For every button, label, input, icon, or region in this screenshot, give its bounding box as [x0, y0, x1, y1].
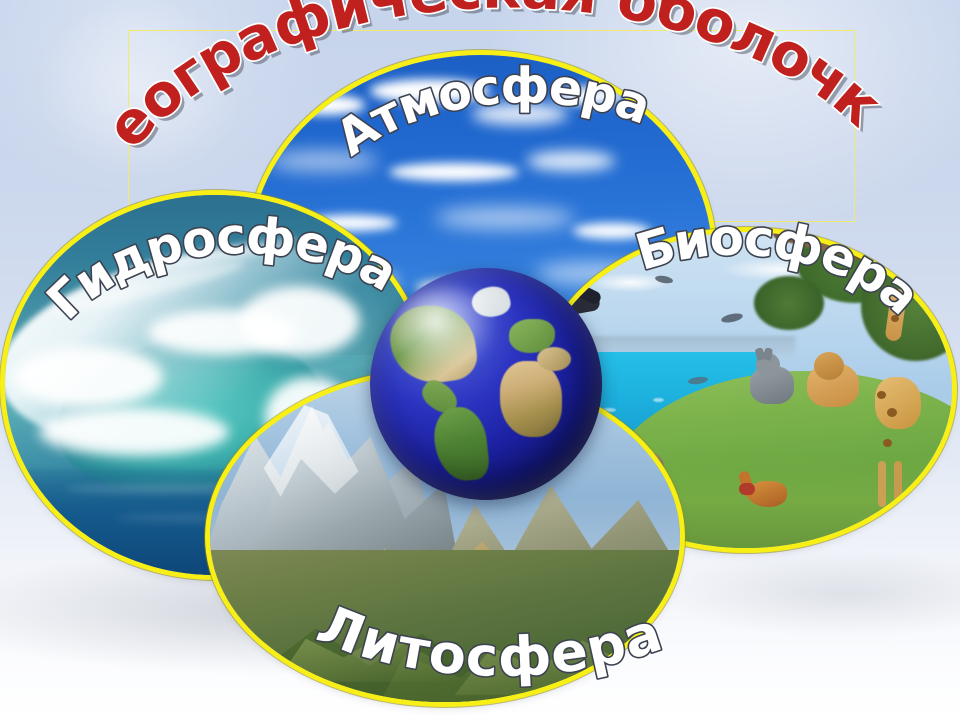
- wolf: [746, 352, 798, 414]
- globe-rim-shading: [370, 268, 602, 500]
- lion: [804, 352, 864, 422]
- giraffe: [870, 289, 932, 510]
- earth-globe[interactable]: [370, 268, 602, 500]
- ground-bird: [738, 466, 794, 510]
- poster-canvas: Атмосфера Гидросфера Биосфера Литосфера: [0, 0, 960, 720]
